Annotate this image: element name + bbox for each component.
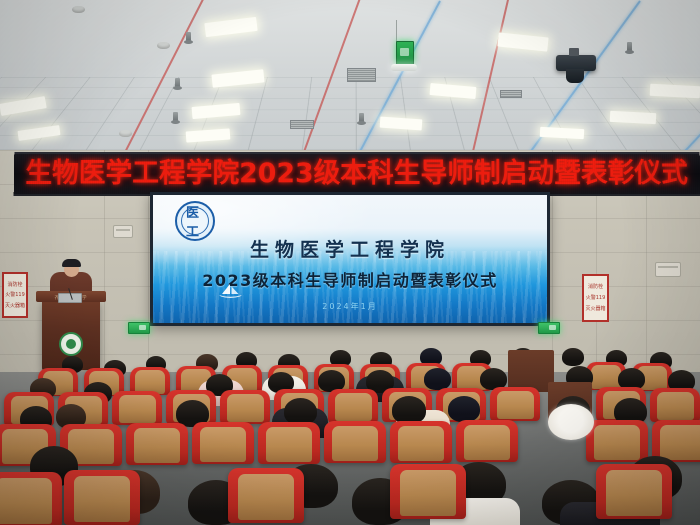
sprinkler-head-icon	[175, 78, 180, 87]
screen-title: 生物医学工程学院	[153, 235, 547, 262]
ceiling-light	[650, 84, 700, 99]
audience-head	[448, 396, 480, 422]
seat-backrest	[200, 427, 246, 462]
fire-sign-line: 火警119	[5, 292, 25, 298]
audience-head	[284, 398, 317, 425]
exit-sign-plate	[396, 41, 414, 65]
fire-sign-line: 消防栓	[588, 284, 603, 290]
smoke-detector-icon	[72, 6, 85, 13]
auditorium-seat[interactable]	[64, 470, 140, 525]
seat-backrest	[657, 392, 694, 421]
auditorium-seat[interactable]	[192, 422, 254, 464]
seat-backrest	[497, 391, 534, 420]
exit-sign-lamp	[391, 64, 417, 71]
projection-screen: 医工 生物医学工程学院 2023级本科生导师制启动暨表彰仪式 2024年1月	[153, 195, 547, 323]
exit-sign-left	[128, 322, 150, 334]
auditorium-seat[interactable]	[112, 391, 162, 425]
auditorium-seat[interactable]	[490, 387, 540, 421]
wall-control-box[interactable]	[113, 225, 133, 238]
auditorium-seat[interactable]	[390, 421, 452, 463]
projection-screen-frame: 医工 生物医学工程学院 2023级本科生导师制启动暨表彰仪式 2024年1月	[150, 192, 550, 326]
seat-backrest	[0, 478, 52, 524]
auditorium-seat[interactable]	[228, 468, 304, 523]
seat-backrest	[119, 395, 156, 424]
seat-backrest	[266, 427, 312, 462]
auditorium-seat[interactable]	[596, 464, 672, 519]
seat-backrest	[134, 428, 180, 463]
screen-subtitle: 2023级本科生导师制启动暨表彰仪式	[153, 267, 547, 291]
ceiling-light	[497, 32, 548, 51]
auditorium-seat[interactable]	[390, 464, 466, 519]
seat-backrest	[594, 425, 640, 460]
sprinkler-head-icon	[627, 42, 632, 51]
sailboat-icon	[215, 283, 245, 299]
seat-backrest	[591, 365, 621, 389]
auditorium-seat[interactable]	[126, 423, 188, 465]
auditorium-seat[interactable]	[328, 389, 378, 423]
fire-sign-line: 灭火器箱	[585, 306, 605, 312]
sprinkler-head-icon	[186, 32, 191, 41]
ceiling-light	[610, 111, 657, 124]
audience-head	[562, 348, 584, 366]
seat-backrest	[74, 476, 130, 522]
exit-sign-rod	[396, 20, 397, 42]
ceiling-projector	[556, 55, 596, 71]
smoke-detector-icon	[157, 42, 170, 49]
audience-head	[392, 396, 426, 424]
sprinkler-head-icon	[359, 113, 364, 122]
seat-backrest	[464, 425, 510, 460]
speaker-cap	[62, 259, 81, 267]
led-banner: 生物医学工程学院2023级本科生导师制启动暨表彰仪式	[14, 152, 700, 196]
fire-safety-sign-right: 消防栓 火警119 灭火器箱	[582, 274, 609, 322]
auditorium-photo: 生物医学工程学院2023级本科生导师制启动暨表彰仪式 医工 生物医学工程学院 2…	[0, 0, 700, 525]
wall-control-box[interactable]	[655, 262, 681, 277]
auditorium-seat[interactable]	[0, 472, 62, 525]
ceiling-air-vent	[347, 68, 376, 82]
smoke-detector-icon	[119, 130, 132, 137]
auditorium-seat[interactable]	[258, 422, 320, 464]
fire-sign-line: 火警119	[586, 295, 606, 301]
fire-safety-sign-left: 消防栓 火警119 灭火器箱	[2, 272, 28, 318]
auditorium-seat[interactable]	[324, 421, 386, 463]
seat-backrest	[227, 394, 264, 423]
auditorium-seat[interactable]	[586, 420, 648, 462]
auditorium-seat[interactable]	[220, 390, 270, 424]
fire-sign-line: 灭火器箱	[5, 303, 25, 309]
fire-sign-line: 消防栓	[7, 282, 22, 288]
seat-backrest	[606, 470, 662, 516]
exit-sign-right	[538, 322, 560, 334]
seat-backrest	[660, 425, 700, 460]
ceiling-air-vent	[500, 90, 522, 98]
auditorium-seat[interactable]	[650, 388, 700, 422]
led-banner-text: 生物医学工程学院2023级本科生导师制启动暨表彰仪式	[26, 159, 689, 189]
ceiling-air-vent	[290, 120, 314, 129]
ceiling-tile-grid	[0, 77, 700, 160]
auditorium-seat[interactable]	[456, 420, 518, 462]
fur-hood	[548, 404, 594, 440]
sprinkler-head-icon	[173, 112, 178, 121]
ceiling-light	[204, 17, 257, 37]
seat-backrest	[332, 426, 378, 461]
seat-backrest	[335, 393, 372, 422]
ceiling	[0, 0, 700, 160]
seat-backrest	[398, 426, 444, 461]
screen-date: 2024年1月	[153, 301, 547, 312]
seat-backrest	[400, 470, 456, 516]
seat-backrest	[238, 474, 294, 520]
podium-emblem-icon	[59, 332, 83, 356]
audience-head	[424, 368, 451, 390]
